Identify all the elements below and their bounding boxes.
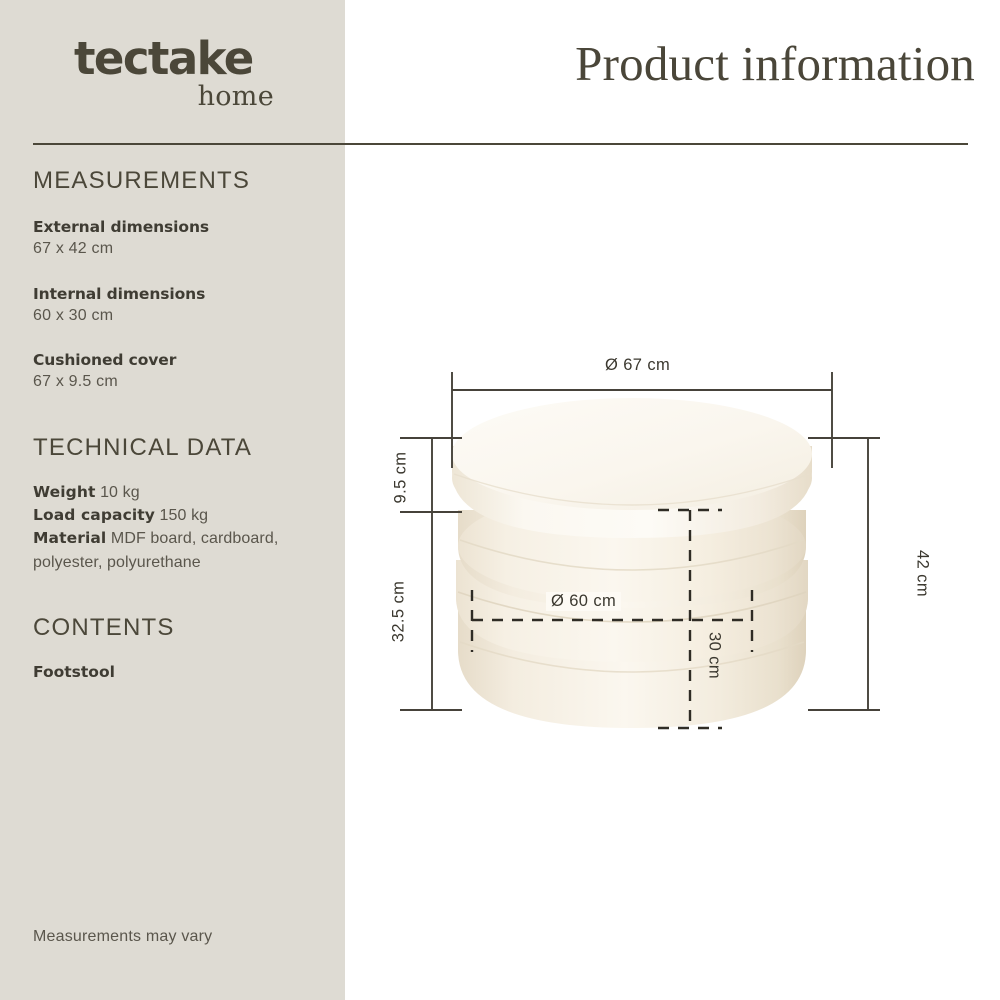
dimension-label-outer-diameter: Ø 67 cm (605, 356, 670, 375)
product-information-sheet: tectake home Product information MEASURE… (0, 0, 1000, 1000)
spec-label: Cushioned cover (33, 349, 333, 371)
contents-list: Footstool (33, 663, 333, 681)
brand-logo: tectake home (74, 36, 314, 116)
dimension-label-inner-diameter: Ø 60 cm (546, 592, 621, 611)
section-heading-technical-data: TECHNICAL DATA (33, 434, 252, 462)
technical-load-value: 150 kg (160, 507, 209, 524)
page-title: Product information (470, 38, 975, 89)
list-item: Footstool (33, 663, 333, 681)
diagram-svg (380, 350, 980, 770)
spec-label: Internal dimensions (33, 283, 333, 305)
technical-weight-label: Weight (33, 483, 96, 501)
footnote-measurements-vary: Measurements may vary (33, 928, 212, 946)
technical-load-capacity: Load capacity 150 kg (33, 504, 333, 527)
product-dimension-diagram: Ø 67 cm 9.5 cm 32.5 cm 42 cm Ø 60 cm 30 … (380, 350, 980, 770)
spec-external-dimensions: External dimensions 67 x 42 cm (33, 216, 333, 261)
brand-name: tectake (74, 36, 314, 81)
section-heading-contents: CONTENTS (33, 614, 175, 642)
dimension-label-body-height: 32.5 cm (390, 577, 409, 647)
dimension-label-inner-height: 30 cm (705, 627, 724, 685)
spec-value: 60 x 30 cm (33, 305, 333, 328)
footstool-illustration (452, 398, 812, 728)
technical-data-list: Weight 10 kg Load capacity 150 kg Materi… (33, 481, 333, 574)
dimension-label-total-height: 42 cm (913, 544, 932, 604)
spec-value: 67 x 9.5 cm (33, 371, 333, 394)
spec-value: 67 x 42 cm (33, 238, 333, 261)
brand-subname: home (74, 83, 274, 110)
technical-material-label: Material (33, 529, 106, 547)
technical-load-label: Load capacity (33, 506, 155, 524)
spec-cushioned-cover: Cushioned cover 67 x 9.5 cm (33, 349, 333, 394)
technical-material-cont: polyester, polyurethane (33, 551, 333, 574)
section-heading-measurements: MEASUREMENTS (33, 167, 250, 195)
spec-internal-dimensions: Internal dimensions 60 x 30 cm (33, 283, 333, 328)
header-divider (33, 143, 968, 145)
technical-material: Material MDF board, cardboard, (33, 527, 333, 550)
technical-weight: Weight 10 kg (33, 481, 333, 504)
technical-weight-value: 10 kg (100, 484, 140, 501)
dimension-label-cushion-height: 9.5 cm (392, 448, 411, 508)
technical-material-value: MDF board, cardboard, (111, 530, 279, 547)
spec-label: External dimensions (33, 216, 333, 238)
